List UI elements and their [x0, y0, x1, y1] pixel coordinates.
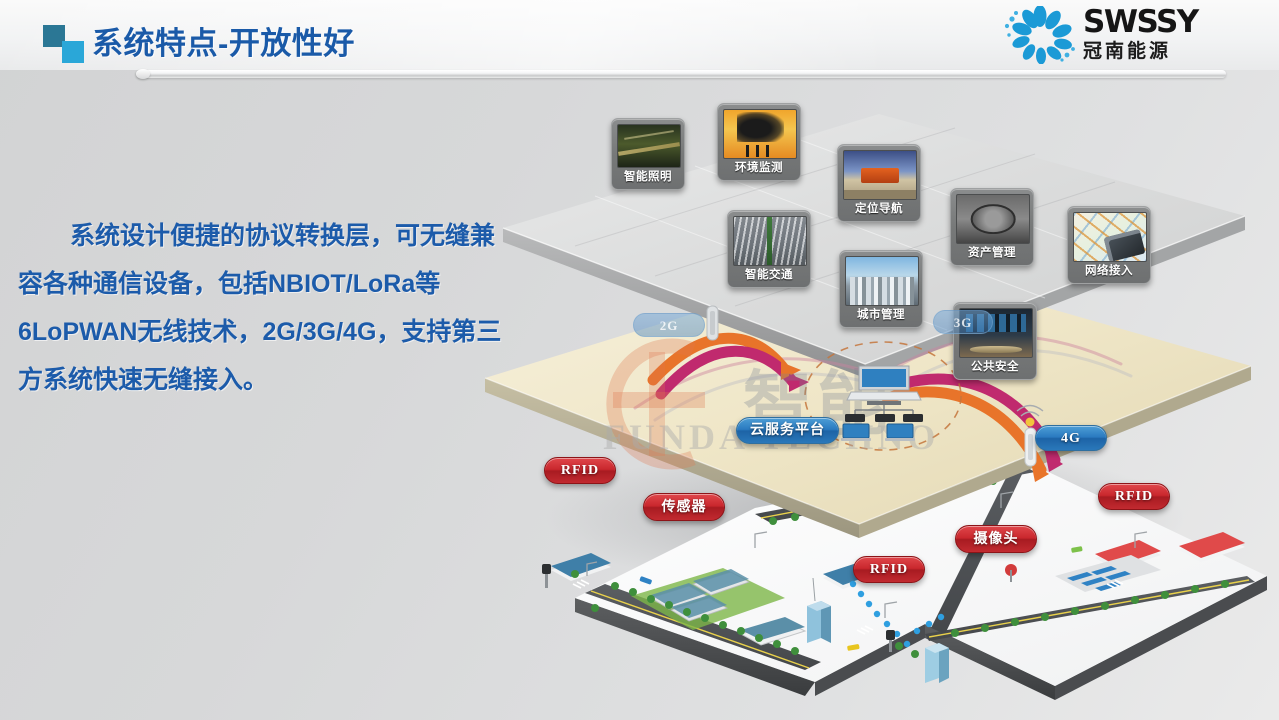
water-droplet-flower-icon [1001, 6, 1079, 64]
app-card-label: 环境监测 [723, 159, 795, 178]
app-card-label: 网络接入 [1073, 262, 1145, 281]
badge-camera[interactable]: 摄像头 [955, 525, 1037, 553]
app-card-network-access[interactable]: 网络接入 [1067, 206, 1151, 284]
truck-on-highway-thumbnail [843, 150, 917, 200]
app-card-smart-traffic[interactable]: 智能交通 [727, 210, 811, 288]
badge-sensor[interactable]: 传感器 [643, 493, 725, 521]
app-card-positioning-navigation[interactable]: 定位导航 [837, 144, 921, 222]
badge-rfid[interactable]: RFID [853, 556, 925, 583]
brand-logo: SWSSY 冠南能源 [1001, 4, 1271, 66]
body-paragraph: 系统设计便捷的协议转换层，可无缝兼容各种通信设备，包括NBIOT/LoRa等6L… [18, 212, 508, 404]
three-tier-iot-architecture-diagram: 智能 FUNDA TECHNO 智能照明 环境监测 智能交通 定位导航 城市管理… [455, 78, 1279, 720]
traffic-jam-thumbnail [733, 216, 807, 266]
night-city-lighting-thumbnail [617, 124, 681, 168]
logo-company-name: 冠南能源 [1083, 40, 1269, 64]
header-accent-square-light [62, 41, 84, 63]
slide-header: 系统特点-开放性好 [0, 0, 1279, 70]
divider-bar [136, 70, 1226, 78]
logo-text-block: SWSSY 冠南能源 [1083, 7, 1269, 64]
app-card-label: 智能照明 [617, 168, 679, 187]
badge-rfid[interactable]: RFID [544, 457, 616, 484]
app-card-label: 城市管理 [845, 306, 917, 325]
app-card-label: 公共安全 [959, 358, 1031, 377]
badge-2g[interactable]: 2G [633, 313, 705, 337]
page-title: 系统特点-开放性好 [92, 18, 355, 63]
cloud-server-cluster-icon [837, 364, 927, 442]
city-skyline-thumbnail [845, 256, 919, 306]
handheld-gps-map-thumbnail [1073, 212, 1147, 262]
app-card-label: 智能交通 [733, 266, 805, 285]
app-card-environment-monitoring[interactable]: 环境监测 [717, 103, 801, 181]
app-card-city-management[interactable]: 城市管理 [839, 250, 923, 328]
smokestack-pollution-thumbnail [723, 109, 797, 159]
badge-rfid[interactable]: RFID [1098, 483, 1170, 510]
app-card-label: 定位导航 [843, 200, 915, 219]
badge-4g[interactable]: 4G [1035, 425, 1107, 451]
manhole-cover-thumbnail [956, 194, 1030, 244]
app-card-label: 资产管理 [956, 244, 1028, 263]
app-card-smart-lighting[interactable]: 智能照明 [611, 118, 685, 190]
divider-end-cap [136, 69, 150, 79]
badge-cloud-service-platform[interactable]: 云服务平台 [736, 417, 839, 444]
app-card-asset-management[interactable]: 资产管理 [950, 188, 1034, 266]
logo-wordmark: SWSSY [1083, 7, 1269, 38]
badge-3g[interactable]: 3G [933, 310, 993, 334]
